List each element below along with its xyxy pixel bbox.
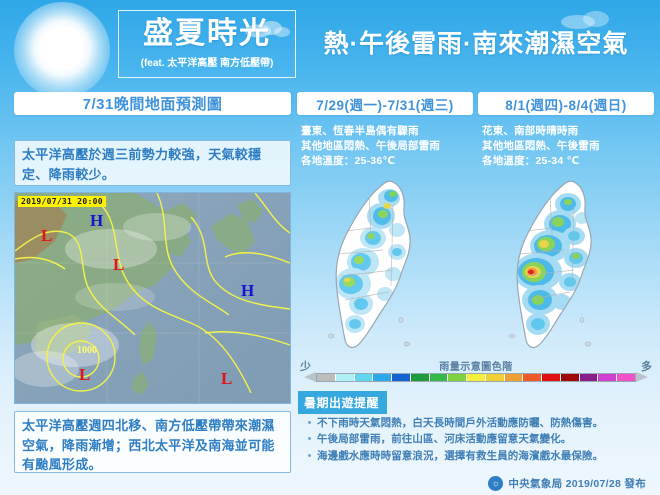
map-timestamp: 2019/07/31 20:00 — [18, 196, 106, 207]
low-pressure-marker: L — [41, 226, 52, 246]
main-title-box: 盛夏時光 (feat. 太平洋高壓 南方低壓帶) — [118, 10, 296, 78]
rainfall-map-1-graphic — [297, 176, 473, 356]
legend-arrow-right-icon — [636, 372, 648, 382]
legend-swatch — [467, 374, 486, 381]
main-title: 盛夏時光 — [143, 19, 271, 49]
panel-header-period-2: 8/1(週四)-8/4(週日) — [478, 92, 654, 115]
low-pressure-marker: L — [79, 365, 90, 385]
panel-header-surface-map: 7/31晚間地面預測圖 — [14, 92, 291, 115]
legend-swatch — [561, 374, 580, 381]
legend-swatch — [598, 374, 617, 381]
rainfall-map-2-graphic — [478, 176, 654, 356]
legend-swatch — [336, 374, 355, 381]
forecast-line: 臺東、恆春半島偶有驟雨 — [301, 124, 476, 139]
forecast-line: 其他地區悶熱、午後局部雷雨 — [301, 139, 476, 154]
rainfall-map-period-1 — [297, 176, 473, 356]
forecast-line: 各地溫度：25-34 ℃ — [482, 154, 657, 169]
forecast-line: 花東、南部時晴時雨 — [482, 124, 657, 139]
legend-swatch — [317, 374, 336, 381]
surface-pressure-map: 2019/07/31 20:00 1000 L H L H L L — [14, 192, 291, 404]
low-pressure-marker: L — [221, 369, 232, 389]
weather-infographic: 盛夏時光 (feat. 太平洋高壓 南方低壓帶) 熱·午後雷雨·南來潮濕空氣 7… — [0, 0, 660, 495]
panel-header-period-1: 7/29(週一)-7/31(週三) — [297, 92, 473, 115]
legend-swatch — [430, 374, 449, 381]
main-title-subtitle: (feat. 太平洋高壓 南方低壓帶) — [141, 54, 274, 69]
low-pressure-marker: L — [113, 255, 124, 275]
legend-swatch — [448, 374, 467, 381]
legend-swatch — [355, 374, 374, 381]
advisory-item: 不下雨時天氣悶熱，白天長時間戶外活動應防曬、防熱傷害。 — [306, 415, 656, 431]
advisory-list: 不下雨時天氣悶熱，白天長時間戶外活動應防曬、防熱傷害。午後局部雷雨，前往山區、河… — [306, 415, 656, 464]
forecast-line: 其他地區悶熱、午後雷雨 — [482, 139, 657, 154]
forecast-text-period-1: 臺東、恆春半島偶有驟雨其他地區悶熱、午後局部雷雨各地溫度：25-36℃ — [301, 124, 476, 170]
cwb-logo-icon: ☼ — [488, 476, 503, 491]
legend-swatch — [617, 374, 635, 381]
advisory-badge: 暑期出遊提醒 — [298, 391, 387, 414]
legend-color-scale — [316, 373, 636, 382]
high-pressure-marker: H — [241, 281, 254, 301]
sun-icon — [14, 2, 110, 98]
legend-arrow-left-icon — [304, 372, 316, 382]
headline-text: 熱·午後雷雨·南來潮濕空氣 — [300, 24, 652, 60]
forecast-text-period-2: 花東、南部時晴時雨其他地區悶熱、午後雷雨各地溫度：25-34 ℃ — [482, 124, 657, 170]
info-box-top: 太平洋高壓於週三前勢力較強，天氣較穩定、降雨較少。 — [14, 140, 291, 186]
info-box-bottom: 太平洋高壓週四北移、南方低壓帶帶來潮濕空氣，降雨漸增；西北太平洋及南海並可能有颱… — [14, 411, 291, 473]
footer-attribution: ☼ 中央氣象局 2019/07/28 發布 — [488, 476, 646, 491]
legend-swatch — [523, 374, 542, 381]
high-pressure-marker: H — [90, 211, 103, 231]
isobar-label-1000: 1000 — [77, 345, 97, 356]
legend-swatch — [411, 374, 430, 381]
advisory-item: 海邊戲水應時時留意浪況，選擇有救生員的海濱戲水最保險。 — [306, 448, 656, 464]
legend-swatch — [580, 374, 599, 381]
legend-swatch — [373, 374, 392, 381]
advisory-item: 午後局部雷雨，前往山區、河床活動應留意天氣變化。 — [306, 431, 656, 447]
forecast-line: 各地溫度：25-36℃ — [301, 154, 476, 169]
legend-swatch — [542, 374, 561, 381]
legend-swatch — [392, 374, 411, 381]
legend-swatch — [486, 374, 505, 381]
legend-title: 雨量示意圖色階 — [300, 358, 652, 373]
rainfall-map-period-2 — [478, 176, 654, 356]
legend-swatch — [505, 374, 524, 381]
rainfall-legend: 雨量示意圖色階 少 多 — [300, 358, 652, 388]
footer-agency-text: 中央氣象局 2019/07/28 發布 — [508, 476, 646, 491]
